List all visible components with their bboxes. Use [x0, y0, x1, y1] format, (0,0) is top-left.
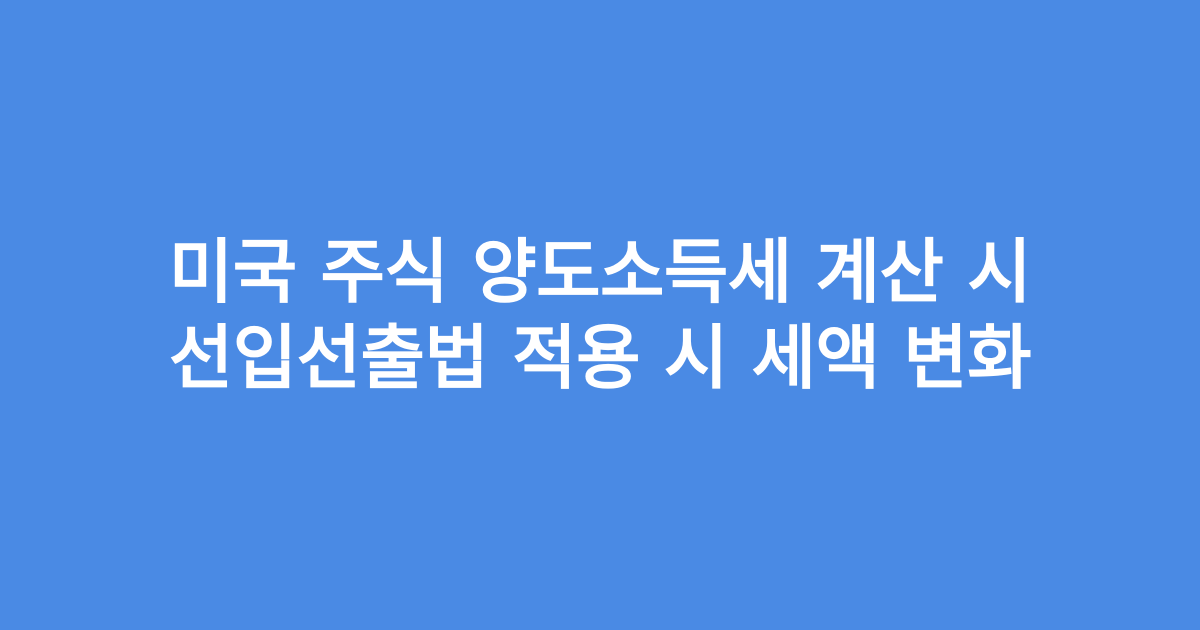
title-line-1: 미국 주식 양도소득세 계산 시: [90, 229, 1110, 315]
title-line-2: 선입선출법 적용 시 세액 변화: [90, 315, 1110, 401]
title-card: 미국 주식 양도소득세 계산 시 선입선출법 적용 시 세액 변화: [0, 0, 1200, 630]
page-title: 미국 주식 양도소득세 계산 시 선입선출법 적용 시 세액 변화: [70, 229, 1130, 401]
